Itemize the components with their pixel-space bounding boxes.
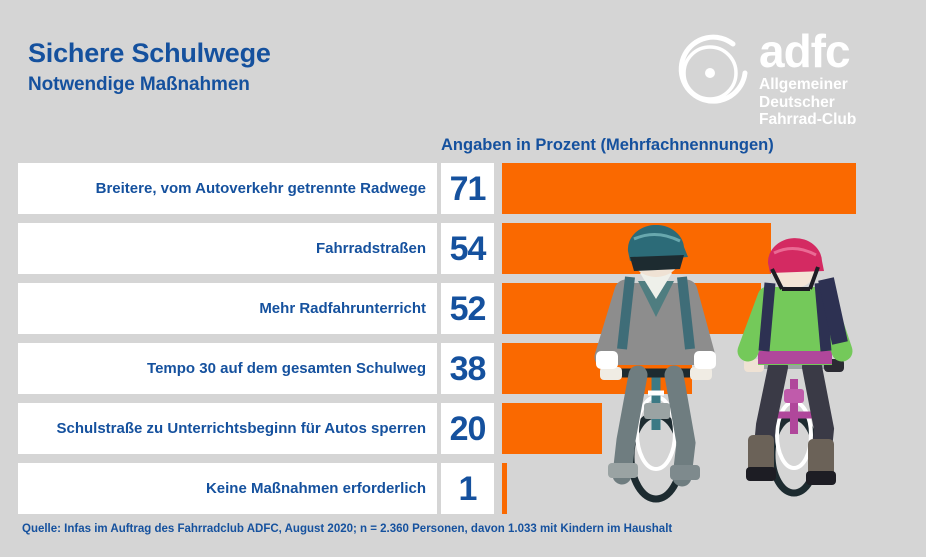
measure-label-box: Breitere, vom Autoverkehr getrennte Radw… — [18, 163, 437, 214]
bar-chart: Breitere, vom Autoverkehr getrennte Radw… — [0, 163, 926, 500]
bar-track — [502, 403, 926, 454]
measure-label-box: Keine Maßnahmen erforderlich — [18, 463, 437, 514]
bicycle-wheel-icon — [665, 28, 755, 118]
measure-value: 20 — [450, 412, 486, 446]
logo-text-block: adfc Allgemeiner Deutscher Fahrrad-Club — [759, 30, 913, 129]
logo-tagline: Allgemeiner Deutscher Fahrrad-Club — [759, 76, 913, 129]
measure-value: 54 — [450, 232, 486, 266]
bar-track — [502, 463, 926, 514]
measure-label: Fahrradstraßen — [316, 240, 426, 257]
measure-label: Keine Maßnahmen erforderlich — [206, 480, 426, 497]
measure-value: 1 — [459, 472, 477, 506]
measure-label-box: Mehr Radfahrunterricht — [18, 283, 437, 334]
table-row: Keine Maßnahmen erforderlich1 — [0, 463, 926, 514]
measure-label-box: Tempo 30 auf dem gesamten Schulweg — [18, 343, 437, 394]
measure-label: Tempo 30 auf dem gesamten Schulweg — [147, 360, 426, 377]
bar — [502, 463, 507, 514]
bar — [502, 223, 771, 274]
chart-caption: Angaben in Prozent (Mehrfachnennungen) — [441, 136, 774, 155]
measure-value: 38 — [450, 352, 486, 386]
logo-tagline-line2: Fahrrad-Club — [759, 111, 913, 129]
measure-value-box: 71 — [441, 163, 494, 214]
page-subtitle: Notwendige Maßnahmen — [28, 74, 271, 96]
bar — [502, 163, 856, 214]
table-row: Breitere, vom Autoverkehr getrennte Radw… — [0, 163, 926, 214]
title-block: Sichere Schulwege Notwendige Maßnahmen — [28, 38, 271, 96]
measure-value-box: 52 — [441, 283, 494, 334]
bar — [502, 403, 602, 454]
bar-track — [502, 283, 926, 334]
bar-track — [502, 163, 926, 214]
table-row: Tempo 30 auf dem gesamten Schulweg38 — [0, 343, 926, 394]
source-footnote: Quelle: Infas im Auftrag des Fahrradclub… — [22, 523, 672, 535]
measure-value: 71 — [450, 172, 486, 206]
bar — [502, 283, 761, 334]
page-title: Sichere Schulwege — [28, 38, 271, 69]
measure-value-box: 54 — [441, 223, 494, 274]
measure-label: Mehr Radfahrunterricht — [259, 300, 426, 317]
bar-track — [502, 223, 926, 274]
measure-label-box: Fahrradstraßen — [18, 223, 437, 274]
bar — [502, 343, 692, 394]
measure-label: Schulstraße zu Unterrichtsbeginn für Aut… — [57, 420, 427, 437]
adfc-logo: adfc Allgemeiner Deutscher Fahrrad-Club — [663, 24, 913, 120]
logo-wordmark: adfc — [759, 30, 913, 74]
measure-value-box: 38 — [441, 343, 494, 394]
table-row: Mehr Radfahrunterricht52 — [0, 283, 926, 334]
bar-track — [502, 343, 926, 394]
measure-value-box: 1 — [441, 463, 494, 514]
header: Sichere Schulwege Notwendige Maßnahmen a… — [0, 0, 926, 128]
table-row: Fahrradstraßen54 — [0, 223, 926, 274]
table-row: Schulstraße zu Unterrichtsbeginn für Aut… — [0, 403, 926, 454]
logo-tagline-line1: Allgemeiner Deutscher — [759, 76, 913, 112]
measure-label-box: Schulstraße zu Unterrichtsbeginn für Aut… — [18, 403, 437, 454]
measure-value-box: 20 — [441, 403, 494, 454]
measure-value: 52 — [450, 292, 486, 326]
measure-label: Breitere, vom Autoverkehr getrennte Radw… — [96, 180, 426, 197]
